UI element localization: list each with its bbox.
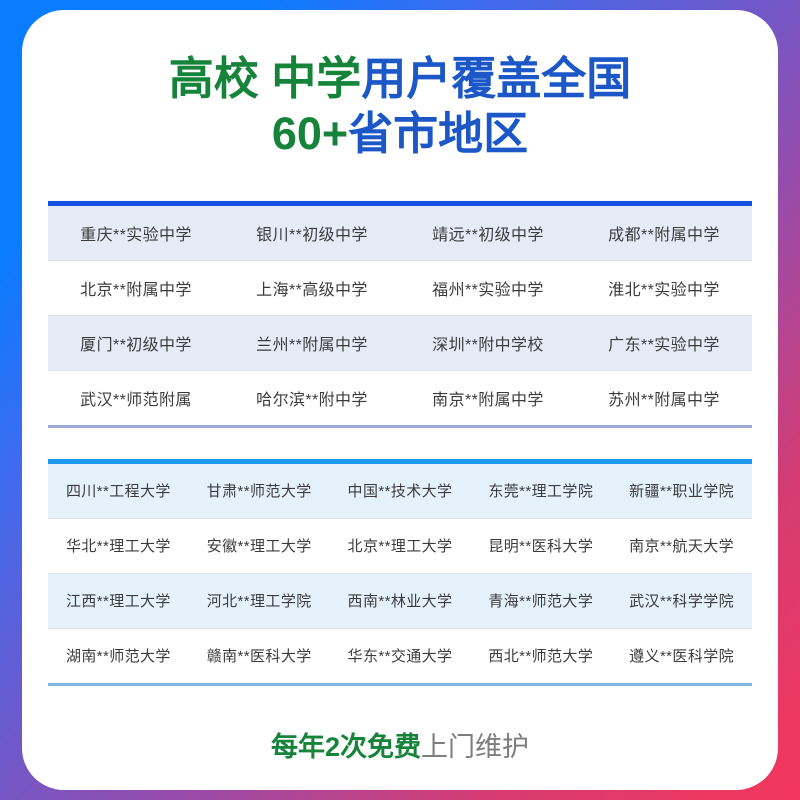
table-cell: 西南**林业大学 [330,590,471,611]
table-cell: 厦门**初级中学 [48,331,224,355]
table-cell: 新疆**职业学院 [611,480,752,501]
table-cell: 哈尔滨**附中学 [224,386,400,410]
table-cell: 青海**师范大学 [470,590,611,611]
table-row: 四川**工程大学 甘肃**师范大学 中国**技术大学 东莞**理工学院 新疆**… [48,464,752,518]
table-cell: 湖南**师范大学 [48,645,189,666]
table-row: 武汉**师范附属 哈尔滨**附中学 南京**附属中学 苏州**附属中学 [48,371,752,425]
table-cell: 北京**附属中学 [48,276,224,300]
table-cell: 昆明**医科大学 [470,535,611,556]
table-cell: 南京**附属中学 [400,386,576,410]
table-cell: 华东**交通大学 [330,645,471,666]
table-cell: 赣南**医科大学 [189,645,330,666]
universities-table: 四川**工程大学 甘肃**师范大学 中国**技术大学 东莞**理工学院 新疆**… [48,459,752,686]
table-cell: 银川**初级中学 [224,221,400,245]
table-row: 湖南**师范大学 赣南**医科大学 华东**交通大学 西北**师范大学 遵义**… [48,629,752,683]
table-cell: 福州**实验中学 [400,276,576,300]
table-cell: 北京**理工大学 [330,535,471,556]
table-cell: 华北**理工大学 [48,535,189,556]
title-line-1-green: 高校 中学 [169,53,362,104]
title-line-1: 高校 中学用户覆盖全国 [22,52,778,107]
table-cell: 兰州**附属中学 [224,331,400,355]
table-cell: 上海**高级中学 [224,276,400,300]
table-cell: 江西**理工大学 [48,590,189,611]
table-cell: 中国**技术大学 [330,480,471,501]
title-line-2-blue: 省市地区 [348,108,528,159]
title-line-1-blue: 用户覆盖全国 [361,53,631,104]
table-cell: 武汉**师范附属 [48,386,224,410]
table-cell: 苏州**附属中学 [576,386,752,410]
footer-highlight: 每年2次免费 [271,732,421,762]
footer-tagline: 每年2次免费上门维护 [22,725,778,764]
table-row: 厦门**初级中学 兰州**附属中学 深圳**附中学校 广东**实验中学 [48,316,752,370]
page-title: 高校 中学用户覆盖全国 60+省市地区 [22,10,778,162]
table-cell: 成都**附属中学 [576,221,752,245]
table-cell: 遵义**医科学院 [611,645,752,666]
table-cell: 西北**师范大学 [470,645,611,666]
table-row: 华北**理工大学 安徽**理工大学 北京**理工大学 昆明**医科大学 南京**… [48,519,752,573]
table-cell: 东莞**理工学院 [470,480,611,501]
table-cell: 安徽**理工大学 [189,535,330,556]
table-cell: 重庆**实验中学 [48,221,224,245]
table-cell: 淮北**实验中学 [576,276,752,300]
title-line-2-green: 60+ [272,108,348,159]
table-cell: 深圳**附中学校 [400,331,576,355]
promo-card: 高校 中学用户覆盖全国 60+省市地区 重庆**实验中学 银川**初级中学 靖远… [22,10,778,790]
footer-rest: 上门维护 [421,732,529,762]
table-cell: 南京**航天大学 [611,535,752,556]
schools-table: 重庆**实验中学 银川**初级中学 靖远**初级中学 成都**附属中学 北京**… [48,201,752,428]
title-line-2: 60+省市地区 [22,107,778,162]
table-cell: 武汉**科学学院 [611,590,752,611]
table-cell: 河北**理工学院 [189,590,330,611]
table-cell: 靖远**初级中学 [400,221,576,245]
universities-table-bottom-bar [48,683,752,686]
table-row: 江西**理工大学 河北**理工学院 西南**林业大学 青海**师范大学 武汉**… [48,574,752,628]
table-cell: 广东**实验中学 [576,331,752,355]
table-row: 重庆**实验中学 银川**初级中学 靖远**初级中学 成都**附属中学 [48,206,752,260]
table-cell: 甘肃**师范大学 [189,480,330,501]
table-row: 北京**附属中学 上海**高级中学 福州**实验中学 淮北**实验中学 [48,261,752,315]
schools-table-bottom-bar [48,425,752,428]
table-cell: 四川**工程大学 [48,480,189,501]
